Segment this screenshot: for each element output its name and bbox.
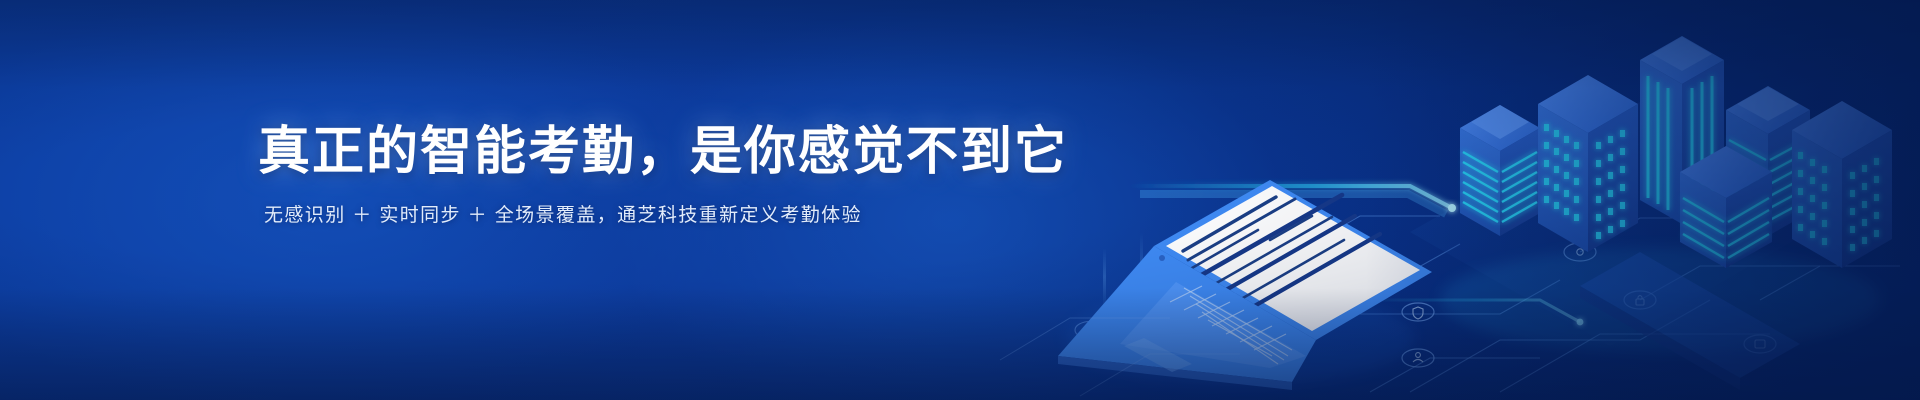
banner-subtitle: 无感识别 ＋ 实时同步 ＋ 全场景覆盖，通芝科技重新定义考勤体验 <box>264 200 862 227</box>
background-right-shade <box>1267 0 1920 400</box>
banner-text-block: 真正的智能考勤，是你感觉不到它 无感识别 ＋ 实时同步 ＋ 全场景覆盖，通芝科技… <box>258 0 1018 400</box>
page-title: 真正的智能考勤，是你感觉不到它 <box>258 123 1068 183</box>
hero-banner: 真正的智能考勤，是你感觉不到它 无感识别 ＋ 实时同步 ＋ 全场景覆盖，通芝科技… <box>0 0 1920 400</box>
